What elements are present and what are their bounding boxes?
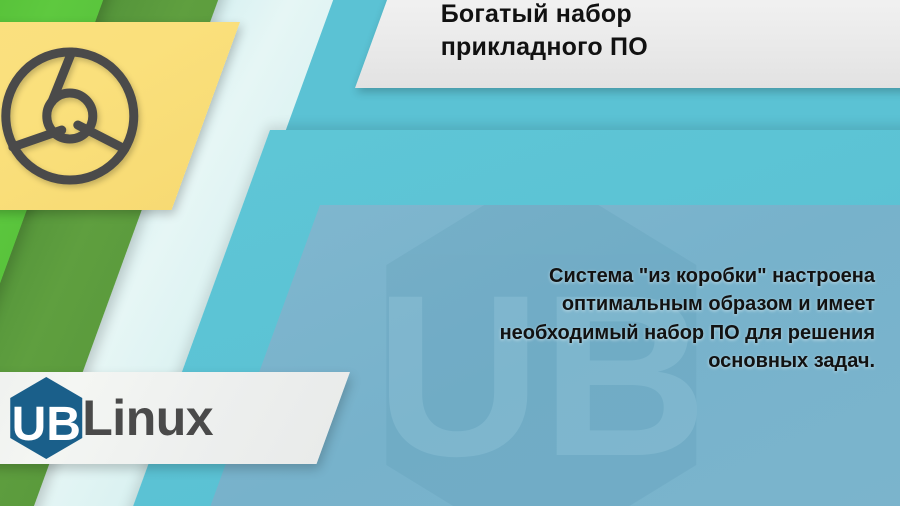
page-title: Богатый набор прикладного ПО bbox=[441, 0, 900, 64]
page-title-line-1: Богатый набор bbox=[441, 0, 900, 31]
brand-logo: UB Linux bbox=[8, 372, 213, 464]
body-line-3: необходимый набор ПО для решения bbox=[395, 319, 875, 347]
body-line-2: оптимальным образом и имеет bbox=[395, 290, 875, 318]
logo-bar: UB Linux bbox=[0, 372, 350, 464]
body-line-1: Система "из коробки" настроена bbox=[395, 262, 875, 290]
body-paragraph: Система "из коробки" настроена оптимальн… bbox=[395, 262, 875, 376]
page-title-line-2: прикладного ПО bbox=[441, 31, 900, 64]
header-card: Богатый набор прикладного ПО bbox=[355, 0, 900, 88]
body-line-4: основных задач. bbox=[395, 347, 875, 375]
brand-name: Linux bbox=[82, 393, 213, 443]
svg-text:UB: UB bbox=[12, 398, 81, 451]
ub-hexagon-icon: UB bbox=[8, 376, 84, 460]
chrome-browser-icon bbox=[0, 40, 146, 192]
slide-canvas: UB Богатый набор прикладного ПО Сис bbox=[0, 0, 900, 506]
